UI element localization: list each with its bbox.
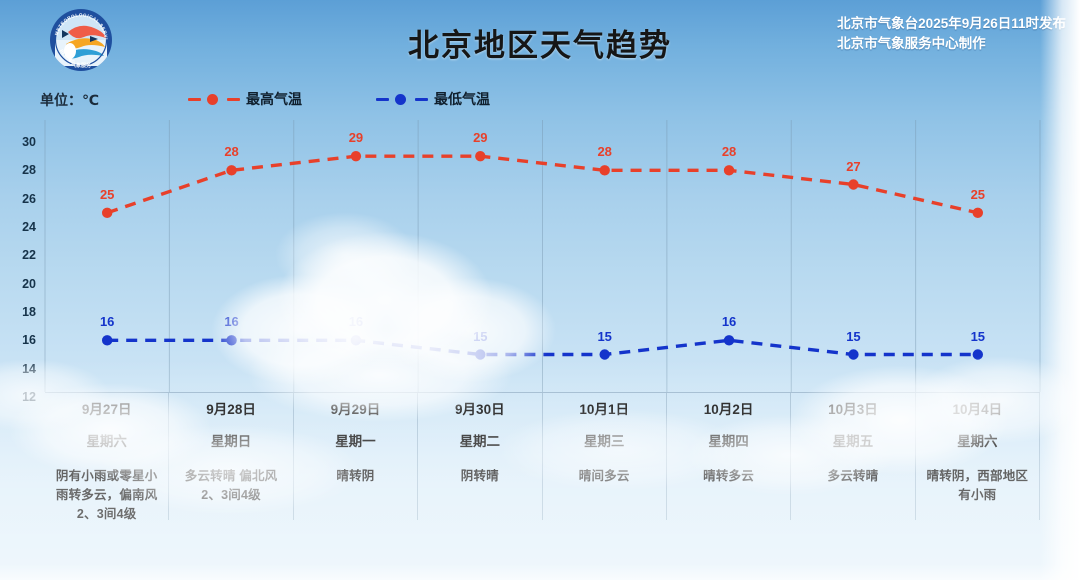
forecast-column-6: 10月3日星期五多云转晴: [791, 393, 915, 520]
forecast-column-7: 10月4日星期六晴转阴，西部地区有小雨: [916, 393, 1040, 520]
bottom-edge-fade: [0, 564, 1080, 580]
data-point-low-2: [351, 335, 361, 345]
forecast-description-6: 多云转晴: [797, 467, 908, 486]
forecast-weekday-3: 星期二: [424, 433, 535, 451]
forecast-date-2: 9月29日: [300, 401, 411, 419]
forecast-description-2: 晴转阴: [300, 467, 411, 486]
forecast-description-0: 阴有小雨或零星小雨转多云，偏南风2、3间4级: [51, 467, 162, 524]
legend-item-low: 最低气温: [376, 89, 490, 109]
forecast-date-0: 9月27日: [51, 401, 162, 419]
forecast-weekday-7: 星期六: [922, 433, 1033, 451]
legend-item-high: 最高气温: [188, 89, 302, 109]
temperature-line-chart: 25282929282827251616161515161515: [0, 110, 1080, 410]
point-label-high-2: 29: [349, 130, 363, 145]
forecast-date-7: 10月4日: [922, 401, 1033, 419]
data-point-low-3: [475, 349, 485, 359]
forecast-column-2: 9月29日星期一晴转阴: [294, 393, 418, 520]
data-point-low-4: [599, 349, 609, 359]
forecast-weekday-1: 星期日: [175, 433, 286, 451]
point-label-low-1: 16: [224, 314, 238, 329]
forecast-date-3: 9月30日: [424, 401, 535, 419]
forecast-date-5: 10月2日: [673, 401, 784, 419]
point-label-low-5: 16: [722, 314, 736, 329]
forecast-description-3: 阴转晴: [424, 467, 535, 486]
forecast-description-1: 多云转晴 偏北风2、3间4级: [175, 467, 286, 505]
legend-marker-low-icon: [376, 93, 428, 105]
forecast-description-7: 晴转阴，西部地区有小雨: [922, 467, 1033, 505]
data-point-low-0: [102, 335, 112, 345]
point-label-high-6: 27: [846, 159, 860, 174]
chart-legend: 最高气温 最低气温: [188, 89, 490, 109]
point-label-high-1: 28: [224, 144, 238, 159]
forecast-weekday-5: 星期四: [673, 433, 784, 451]
data-point-high-0: [102, 208, 112, 218]
forecast-description-5: 晴转多云: [673, 467, 784, 486]
forecast-date-6: 10月3日: [797, 401, 908, 419]
issue-line-2: 北京市气象服务中心制作: [837, 34, 1066, 54]
forecast-weekday-0: 星期六: [51, 433, 162, 451]
unit-label: 单位：℃: [40, 90, 99, 110]
data-point-high-1: [226, 165, 236, 175]
forecast-table: 9月27日星期六阴有小雨或零星小雨转多云，偏南风2、3间4级9月28日星期日多云…: [45, 392, 1040, 520]
point-label-high-3: 29: [473, 130, 487, 145]
forecast-column-0: 9月27日星期六阴有小雨或零星小雨转多云，偏南风2、3间4级: [45, 393, 169, 520]
legend-label-low: 最低气温: [434, 89, 490, 109]
right-edge-fade: [1040, 0, 1080, 580]
weather-trend-poster: METEOROLOGICAL SERVICE BEIJING 气象服务 北京地区…: [0, 0, 1080, 580]
point-label-low-0: 16: [100, 314, 114, 329]
forecast-description-4: 晴间多云: [549, 467, 660, 486]
data-point-high-2: [351, 151, 361, 161]
legend-label-high: 最高气温: [246, 89, 302, 109]
chart-svg: [0, 110, 1080, 410]
data-point-high-7: [973, 208, 983, 218]
data-point-low-5: [724, 335, 734, 345]
forecast-column-5: 10月2日星期四晴转多云: [667, 393, 791, 520]
point-label-low-2: 16: [349, 314, 363, 329]
point-label-low-3: 15: [473, 329, 487, 344]
point-label-low-4: 15: [597, 329, 611, 344]
data-point-high-3: [475, 151, 485, 161]
data-point-low-6: [848, 349, 858, 359]
forecast-weekday-2: 星期一: [300, 433, 411, 451]
data-point-high-6: [848, 179, 858, 189]
issue-info: 北京市气象台2025年9月26日11时发布 北京市气象服务中心制作: [837, 14, 1066, 54]
forecast-column-3: 9月30日星期二阴转晴: [418, 393, 542, 520]
point-label-high-7: 25: [971, 187, 985, 202]
data-point-high-4: [599, 165, 609, 175]
point-label-high-5: 28: [722, 144, 736, 159]
forecast-date-4: 10月1日: [549, 401, 660, 419]
forecast-date-1: 9月28日: [175, 401, 286, 419]
point-label-low-6: 15: [846, 329, 860, 344]
point-label-high-4: 28: [597, 144, 611, 159]
forecast-column-4: 10月1日星期三晴间多云: [543, 393, 667, 520]
forecast-weekday-6: 星期五: [797, 433, 908, 451]
legend-marker-high-icon: [188, 93, 240, 105]
data-point-high-5: [724, 165, 734, 175]
forecast-weekday-4: 星期三: [549, 433, 660, 451]
forecast-column-1: 9月28日星期日多云转晴 偏北风2、3间4级: [169, 393, 293, 520]
issue-line-1: 北京市气象台2025年9月26日11时发布: [837, 14, 1066, 34]
point-label-low-7: 15: [971, 329, 985, 344]
data-point-low-7: [973, 349, 983, 359]
data-point-low-1: [226, 335, 236, 345]
point-label-high-0: 25: [100, 187, 114, 202]
